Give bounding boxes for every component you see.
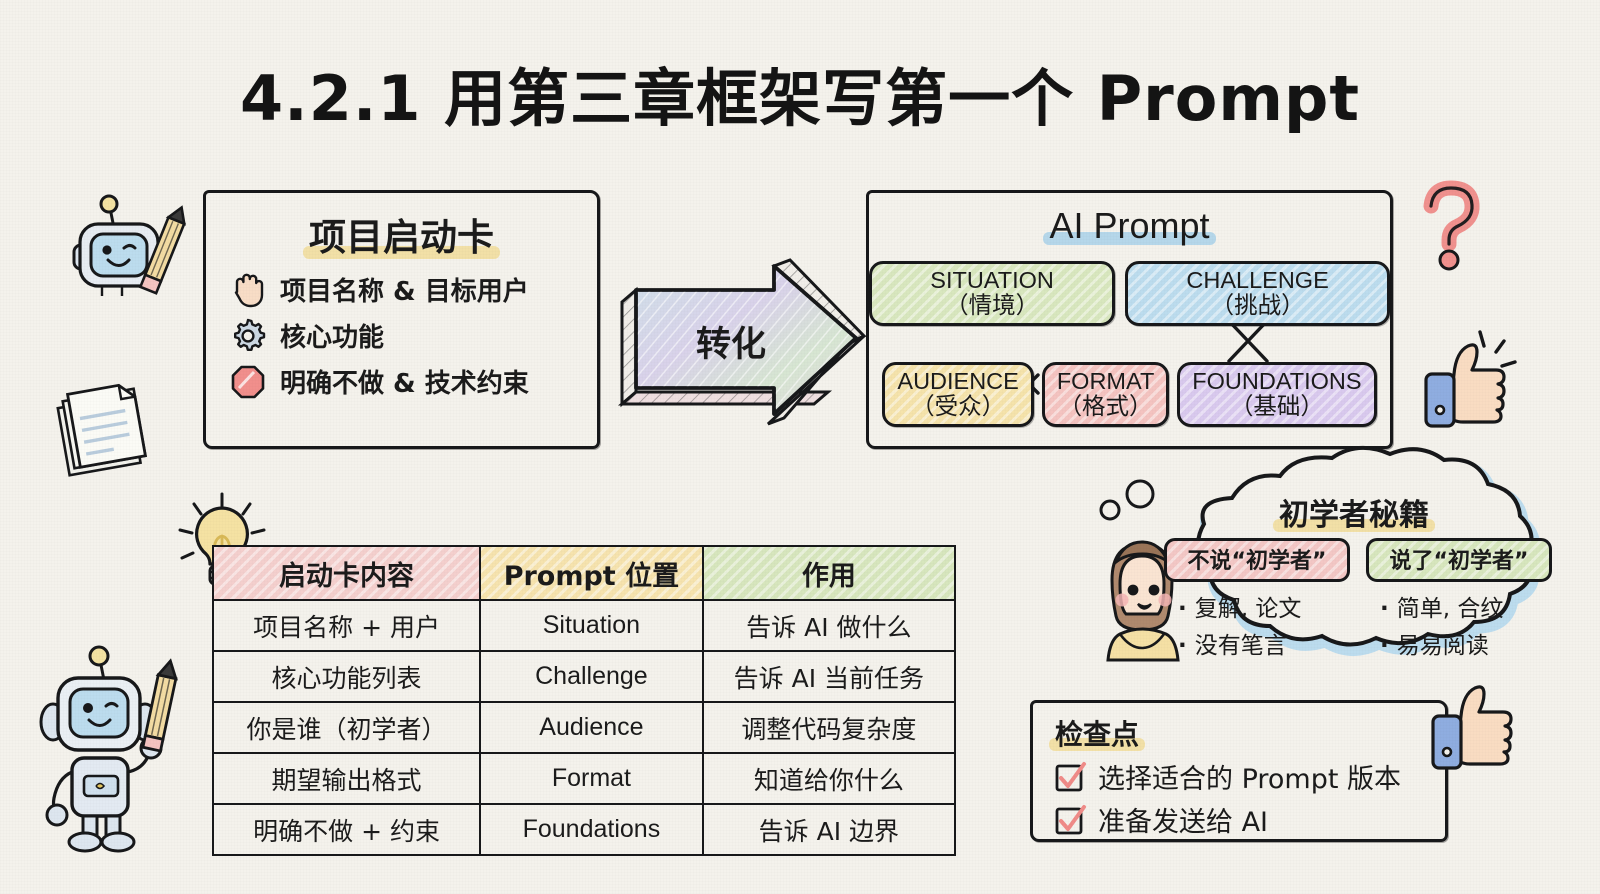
cell-effect: 知道给你什么 <box>703 753 955 804</box>
chip-foundations[interactable]: FOUNDATIONS （基础） <box>1177 362 1376 427</box>
cell-position: Audience <box>480 702 703 753</box>
table-header-row: 启动卡内容 Prompt 位置 作用 <box>213 546 955 600</box>
table-row: 明确不做 + 约束 Foundations 告诉 AI 边界 <box>213 804 955 855</box>
cloud-column-with: 说了“初学者” 简单, 合纹 易易阅读 <box>1366 538 1552 660</box>
robot-full-body-with-pencil-icon <box>30 640 210 855</box>
checkpoint-item-0[interactable]: 选择适合的 Prompt 版本 <box>1055 757 1445 796</box>
cell-content: 项目名称 + 用户 <box>213 600 480 651</box>
checkbox-checked-icon[interactable] <box>1055 762 1085 792</box>
table-row: 核心功能列表 Challenge 告诉 AI 当前任务 <box>213 651 955 702</box>
hand-icon <box>230 270 266 308</box>
table-row: 你是谁（初学者） Audience 调整代码复杂度 <box>213 702 955 753</box>
cloud-title: 初学者秘籍 <box>1128 490 1580 534</box>
chip-label: SITUATION <box>930 267 1054 293</box>
cloud-point: 没有笔言 <box>1178 626 1350 660</box>
cell-effect: 告诉 AI 当前任务 <box>703 651 955 702</box>
mapping-table: 启动卡内容 Prompt 位置 作用 项目名称 + 用户 Situation 告… <box>212 545 956 856</box>
cloud-point: 复解, 论文 <box>1178 589 1350 623</box>
cloud-point: 简单, 合纹 <box>1380 589 1552 623</box>
cloud-point: 易易阅读 <box>1380 626 1552 660</box>
left-card-item-label: 核心功能 <box>280 317 384 354</box>
cloud-pill-with: 说了“初学者” <box>1366 538 1552 582</box>
thumbs-up-icon <box>1418 330 1514 434</box>
cloud-pill-without: 不说“初学者” <box>1164 538 1350 582</box>
checkbox-checked-icon[interactable] <box>1055 805 1085 835</box>
cell-effect: 告诉 AI 做什么 <box>703 600 955 651</box>
cell-effect: 告诉 AI 边界 <box>703 804 955 855</box>
chip-label-cn: （挑战） <box>1211 291 1305 319</box>
stop-sign-icon <box>230 364 266 400</box>
chip-format[interactable]: FORMAT （格式） <box>1042 362 1169 427</box>
ai-prompt-card: AI Prompt SITUATION（情境） CHALLENGE（挑战） AU… <box>866 190 1393 449</box>
cell-position: Challenge <box>480 651 703 702</box>
chip-label: CHALLENGE <box>1186 267 1328 293</box>
chip-label: FORMAT <box>1057 369 1154 394</box>
left-card-item-1: 核心功能 <box>230 317 597 354</box>
chip-label: FOUNDATIONS <box>1192 369 1361 394</box>
thumbs-up-icon <box>1425 672 1521 776</box>
table-element: 启动卡内容 Prompt 位置 作用 项目名称 + 用户 Situation 告… <box>212 545 956 856</box>
table-row: 项目名称 + 用户 Situation 告诉 AI 做什么 <box>213 600 955 651</box>
left-card-item-label: 项目名称 & 目标用户 <box>280 271 529 308</box>
cell-position: Foundations <box>480 804 703 855</box>
gear-icon <box>230 318 266 354</box>
page-title: 4.2.1 用第三章框架写第一个 Prompt <box>0 48 1600 138</box>
cell-content: 期望输出格式 <box>213 753 480 804</box>
cell-content: 核心功能列表 <box>213 651 480 702</box>
cell-content: 你是谁（初学者） <box>213 702 480 753</box>
cell-position: Format <box>480 753 703 804</box>
beginner-tips-cloud: 初学者秘籍 不说“初学者” 复解, 论文 没有笔言 说了“初学者” 简单, 合纹… <box>1128 470 1580 692</box>
cell-content: 明确不做 + 约束 <box>213 804 480 855</box>
left-card-title: 项目启动卡 <box>206 207 597 261</box>
chip-challenge[interactable]: CHALLENGE（挑战） <box>1125 261 1390 326</box>
cell-position: Situation <box>480 600 703 651</box>
cloud-points-without: 复解, 论文 没有笔言 <box>1178 589 1350 660</box>
table-header-content: 启动卡内容 <box>213 546 480 600</box>
left-card-item-0: 项目名称 & 目标用户 <box>230 270 597 308</box>
checkpoint-title: 检查点 <box>1055 713 1445 753</box>
project-kickoff-card: 项目启动卡 项目名称 & 目标用户 核心功能 明确不做 & 技术约束 <box>203 190 600 449</box>
checkpoint-box: 检查点 选择适合的 Prompt 版本 准备发送给 AI <box>1030 700 1448 842</box>
checkpoint-item-label: 准备发送给 AI <box>1098 800 1268 839</box>
table-header-position: Prompt 位置 <box>480 546 703 600</box>
cell-effect: 调整代码复杂度 <box>703 702 955 753</box>
chip-label-cn: （格式） <box>1057 394 1154 419</box>
checkpoint-item-label: 选择适合的 Prompt 版本 <box>1098 757 1401 796</box>
chip-label-cn: （情境） <box>945 291 1039 319</box>
cloud-column-without: 不说“初学者” 复解, 论文 没有笔言 <box>1164 538 1350 660</box>
chip-label-cn: （基础） <box>1192 394 1361 419</box>
arrow-label: 转化 <box>696 316 766 367</box>
paper-stack-icon <box>52 378 162 478</box>
robot-head-with-pencil-icon <box>62 190 192 320</box>
cloud-points-with: 简单, 合纹 易易阅读 <box>1380 589 1552 660</box>
chip-situation[interactable]: SITUATION（情境） <box>869 261 1115 326</box>
chip-label-cn: （受众） <box>897 394 1018 419</box>
checkpoint-item-1[interactable]: 准备发送给 AI <box>1055 800 1445 839</box>
chip-label: AUDIENCE <box>897 369 1018 394</box>
question-mark-icon <box>1415 178 1495 288</box>
table-header-effect: 作用 <box>703 546 955 600</box>
transform-arrow: 转化 <box>618 258 868 428</box>
left-card-item-2: 明确不做 & 技术约束 <box>230 363 597 400</box>
chip-audience[interactable]: AUDIENCE （受众） <box>882 362 1033 427</box>
left-card-item-label: 明确不做 & 技术约束 <box>280 363 529 400</box>
table-row: 期望输出格式 Format 知道给你什么 <box>213 753 955 804</box>
